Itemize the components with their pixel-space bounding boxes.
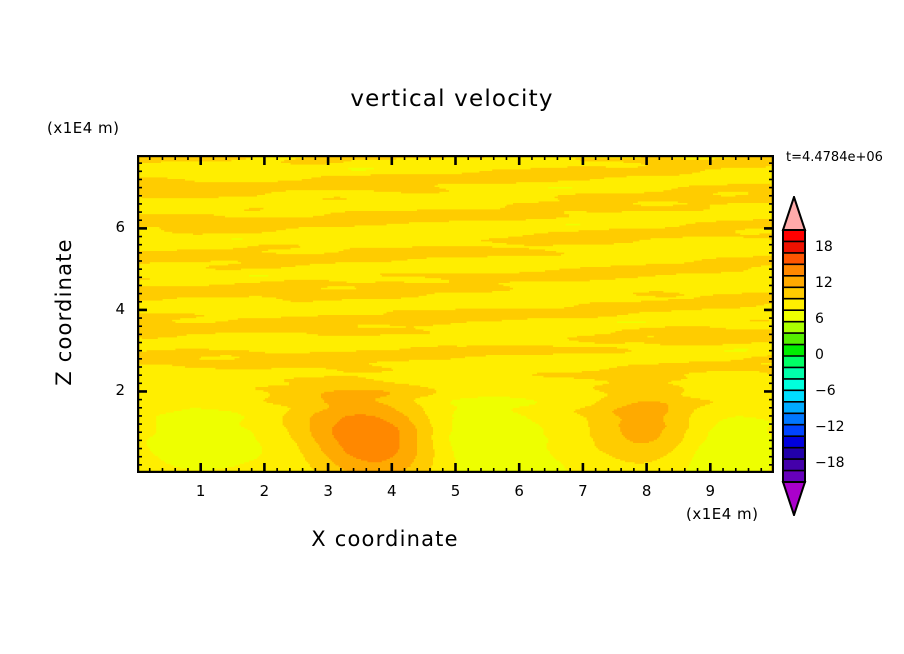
colorbar-tick-label: 6 [815, 311, 824, 327]
chart-title: vertical velocity [0, 86, 904, 112]
colorbar-tick-label: 18 [815, 239, 833, 255]
y-tick-label: 2 [85, 381, 125, 399]
colorbar-tick-label: −6 [815, 383, 836, 399]
y-tick-label: 4 [85, 300, 125, 318]
colorbar-tick-label: 0 [815, 347, 824, 363]
x-tick-label: 7 [563, 482, 603, 500]
colorbar-tick-label: 12 [815, 275, 833, 291]
x-tick-label: 2 [244, 482, 284, 500]
colorbar [778, 196, 814, 516]
figure-canvas: vertical velocity (x1E4 m) t=4.4784e+06 … [0, 0, 904, 654]
y-axis-unit-label: (x1E4 m) [47, 119, 120, 137]
x-tick-label: 1 [181, 482, 221, 500]
contour-plot-area [137, 155, 774, 473]
timestamp-annotation: t=4.4784e+06 [786, 150, 883, 165]
x-tick-label: 4 [372, 482, 412, 500]
x-tick-label: 8 [627, 482, 667, 500]
colorbar-tick-label: −12 [815, 419, 845, 435]
x-tick-label: 9 [690, 482, 730, 500]
y-tick-label: 6 [85, 218, 125, 236]
x-tick-label: 5 [436, 482, 476, 500]
x-axis-title: X coordinate [0, 527, 770, 551]
y-axis-title: Z coordinate [52, 212, 76, 412]
x-tick-label: 6 [499, 482, 539, 500]
x-tick-label: 3 [308, 482, 348, 500]
colorbar-tick-label: −18 [815, 455, 845, 471]
x-axis-unit-label: (x1E4 m) [686, 505, 759, 523]
